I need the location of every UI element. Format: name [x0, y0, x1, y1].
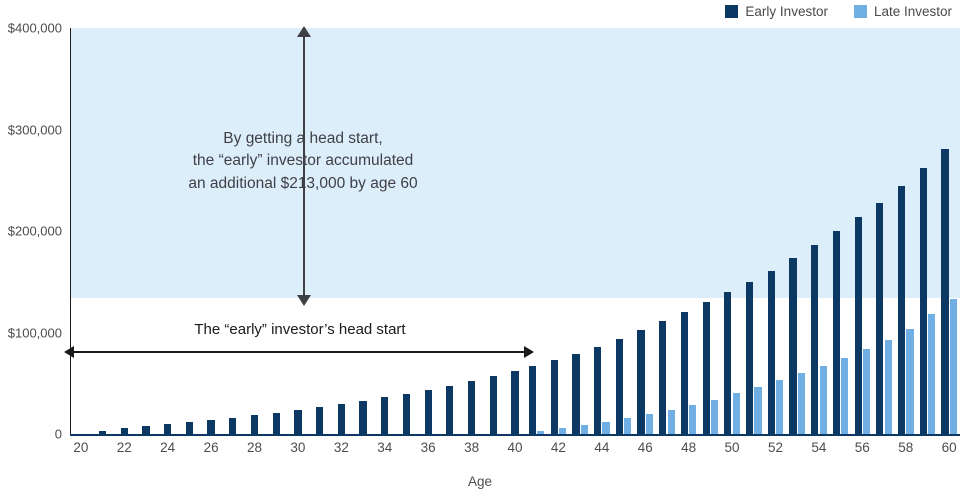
bar-early-age-46: [637, 330, 644, 434]
bar-late-age-57: [885, 340, 892, 434]
x-axis-tick-labels: 2022242628303234363840424446485052545658…: [0, 440, 960, 462]
head-start-measure-line: [72, 351, 528, 353]
x-tick-50: 50: [725, 440, 740, 455]
arrow-left-icon: [64, 346, 74, 358]
callout-line-1: By getting a head start,: [150, 128, 456, 150]
bar-early-age-27: [229, 418, 236, 434]
x-tick-28: 28: [247, 440, 262, 455]
y-tick-200000: $200,000: [8, 224, 62, 239]
callout-line-3: an additional $213,000 by age 60: [150, 173, 456, 195]
x-tick-34: 34: [377, 440, 392, 455]
x-tick-22: 22: [117, 440, 132, 455]
y-tick-300000: $300,000: [8, 122, 62, 137]
chart-legend: Early Investor Late Investor: [725, 4, 952, 19]
bar-late-age-54: [820, 366, 827, 434]
bar-late-age-48: [689, 405, 696, 434]
bar-early-age-43: [572, 354, 579, 434]
bar-late-age-45: [624, 418, 631, 434]
bar-early-age-60: [941, 149, 948, 434]
legend-label-early-investor: Early Investor: [745, 4, 828, 19]
bar-early-age-29: [273, 413, 280, 434]
bar-early-age-33: [359, 401, 366, 434]
investment-growth-bar-chart: Early Investor Late Investor 0$100,000$2…: [0, 0, 960, 500]
x-tick-44: 44: [594, 440, 609, 455]
bar-early-age-24: [164, 424, 171, 434]
bar-early-age-49: [703, 302, 710, 434]
x-tick-46: 46: [638, 440, 653, 455]
x-tick-54: 54: [811, 440, 826, 455]
x-tick-32: 32: [334, 440, 349, 455]
bar-late-age-50: [733, 393, 740, 434]
legend-swatch-early-investor: [725, 5, 738, 18]
x-tick-24: 24: [160, 440, 175, 455]
x-tick-42: 42: [551, 440, 566, 455]
bar-early-age-45: [616, 339, 623, 434]
bar-early-age-57: [876, 203, 883, 434]
bar-early-age-30: [294, 410, 301, 434]
bar-early-age-52: [768, 271, 775, 434]
bar-early-age-32: [338, 404, 345, 434]
bar-early-age-41: [529, 366, 536, 434]
bar-early-age-55: [833, 231, 840, 434]
bar-early-age-36: [425, 390, 432, 434]
bar-early-age-56: [855, 217, 862, 434]
bar-late-age-53: [798, 373, 805, 434]
bar-early-age-28: [251, 415, 258, 434]
legend-label-late-investor: Late Investor: [874, 4, 952, 19]
bar-early-age-59: [920, 168, 927, 434]
bar-late-age-59: [928, 314, 935, 434]
y-tick-400000: $400,000: [8, 21, 62, 36]
bar-late-age-56: [863, 349, 870, 434]
bar-late-age-55: [841, 358, 848, 434]
x-tick-52: 52: [768, 440, 783, 455]
bar-late-age-52: [776, 380, 783, 434]
bar-early-age-31: [316, 407, 323, 434]
y-axis-line: [70, 28, 71, 435]
bar-early-age-26: [207, 420, 214, 434]
x-tick-20: 20: [73, 440, 88, 455]
bar-early-age-47: [659, 321, 666, 434]
bar-early-age-51: [746, 282, 753, 434]
legend-item-late-investor: Late Investor: [854, 4, 952, 19]
arrow-down-icon: [297, 295, 311, 306]
bar-early-age-34: [381, 397, 388, 434]
bar-early-age-48: [681, 312, 688, 434]
y-tick-100000: $100,000: [8, 325, 62, 340]
x-tick-58: 58: [898, 440, 913, 455]
arrow-right-icon: [524, 346, 534, 358]
callout-line-2: the “early” investor accumulated: [150, 150, 456, 172]
callout-annotation: By getting a head start, the “early” inv…: [150, 128, 456, 195]
bar-late-age-58: [906, 329, 913, 434]
bar-late-age-51: [754, 387, 761, 434]
bar-early-age-25: [186, 422, 193, 434]
x-axis-line: [70, 434, 960, 436]
bar-early-age-39: [490, 376, 497, 434]
x-tick-40: 40: [507, 440, 522, 455]
bar-early-age-40: [511, 371, 518, 434]
bar-late-age-44: [602, 422, 609, 434]
legend-item-early-investor: Early Investor: [725, 4, 828, 19]
bar-early-age-58: [898, 186, 905, 434]
x-tick-56: 56: [855, 440, 870, 455]
bar-late-age-43: [581, 425, 588, 434]
arrow-up-icon: [297, 26, 311, 37]
bar-early-age-54: [811, 245, 818, 434]
bar-early-age-44: [594, 347, 601, 434]
bar-late-age-60: [950, 299, 957, 434]
bar-early-age-35: [403, 394, 410, 434]
head-start-annotation: The “early” investor’s head start: [110, 321, 490, 338]
x-tick-48: 48: [681, 440, 696, 455]
bar-late-age-46: [646, 414, 653, 434]
bar-early-age-38: [468, 381, 475, 434]
bar-early-age-37: [446, 386, 453, 434]
bar-late-age-49: [711, 400, 718, 435]
x-tick-30: 30: [290, 440, 305, 455]
bar-late-age-47: [668, 410, 675, 434]
bar-early-age-53: [789, 258, 796, 434]
bar-early-age-50: [724, 292, 731, 434]
bar-early-age-42: [551, 360, 558, 434]
x-tick-36: 36: [421, 440, 436, 455]
x-axis-title: Age: [0, 474, 960, 489]
x-tick-38: 38: [464, 440, 479, 455]
x-tick-26: 26: [204, 440, 219, 455]
bar-early-age-23: [142, 426, 149, 434]
bars-layer: [70, 28, 960, 434]
x-tick-60: 60: [942, 440, 957, 455]
legend-swatch-late-investor: [854, 5, 867, 18]
